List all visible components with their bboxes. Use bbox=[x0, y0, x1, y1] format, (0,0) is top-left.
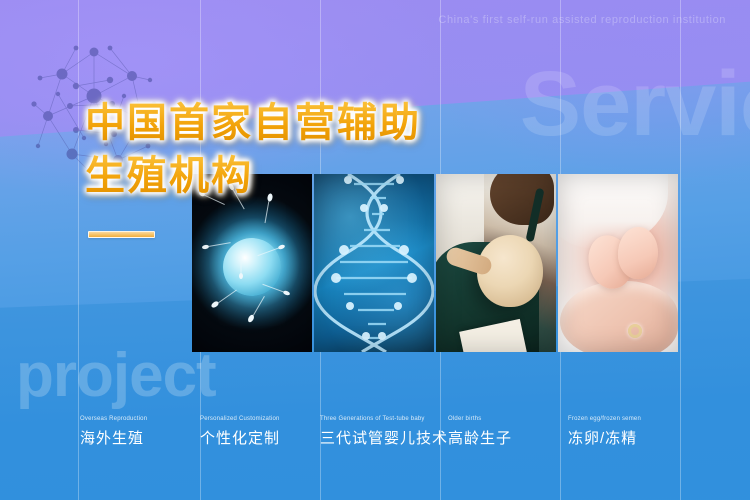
headline-line-2: 生殖机构 bbox=[85, 153, 421, 200]
hand-shape bbox=[560, 281, 678, 352]
hair-shape bbox=[490, 174, 554, 225]
menu-item-cn-label: 海外生殖 bbox=[80, 427, 200, 448]
menu-item-cn-label: 冻卵/冻精 bbox=[568, 427, 688, 448]
menu-item-en-label: Overseas Reproduction bbox=[80, 416, 200, 422]
dna-helix-photo[interactable] bbox=[314, 174, 434, 352]
title-underline-rule bbox=[88, 231, 155, 238]
menu-item-en-label: Three Generations of Test-tube baby bbox=[320, 416, 448, 422]
pregnant-woman-photo[interactable] bbox=[436, 174, 556, 352]
menu-item-overseas-reproduction[interactable]: Overseas Reproduction 海外生殖 bbox=[80, 408, 200, 500]
photo-card-strip bbox=[192, 174, 678, 352]
ring-icon bbox=[628, 324, 642, 338]
menu-item-frozen-egg-semen[interactable]: Frozen egg/frozen semen 冻卵/冻精 bbox=[568, 408, 688, 500]
dna-helix-graphic bbox=[314, 174, 434, 352]
menu-item-cn-label: 高龄生子 bbox=[448, 427, 568, 448]
menu-item-older-births[interactable]: Older births 高龄生子 bbox=[448, 408, 568, 500]
baby-feet-photo[interactable] bbox=[558, 174, 678, 352]
menu-item-en-label: Frozen egg/frozen semen bbox=[568, 416, 688, 422]
menu-item-cn-label: 个性化定制 bbox=[200, 427, 320, 448]
service-menu: Overseas Reproduction 海外生殖 Personalized … bbox=[0, 408, 750, 500]
menu-item-cn-label: 三代试管婴儿技术 bbox=[320, 427, 448, 448]
menu-item-en-label: Personalized Customization bbox=[200, 416, 320, 422]
menu-item-personalized-customization[interactable]: Personalized Customization 个性化定制 bbox=[200, 408, 320, 500]
menu-item-en-label: Older births bbox=[448, 416, 568, 422]
page-title: 中国首家自营辅助 生殖机构 bbox=[85, 100, 421, 200]
promo-banner: Servic project China's first self-run as… bbox=[0, 0, 750, 500]
headline-line-1: 中国首家自营辅助 bbox=[85, 100, 421, 147]
menu-item-three-generations-ivf[interactable]: Three Generations of Test-tube baby 三代试管… bbox=[320, 408, 448, 500]
ovum-sperm-photo[interactable] bbox=[192, 174, 312, 352]
